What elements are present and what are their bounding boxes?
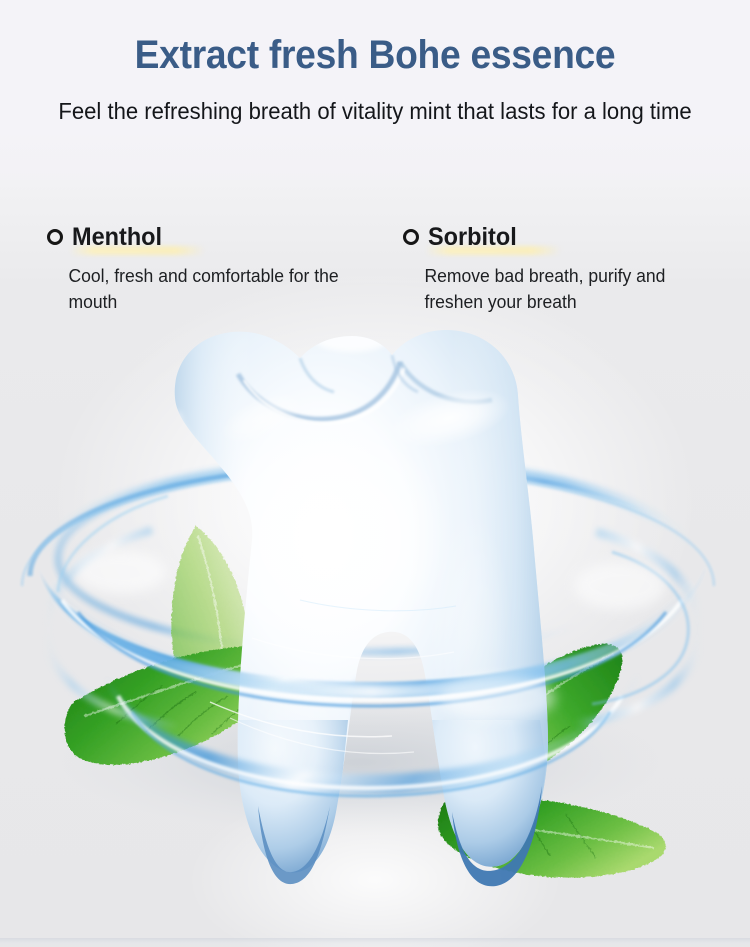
circle-outline-icon xyxy=(403,229,419,245)
feature-title-sorbitol: Sorbitol xyxy=(428,222,517,252)
feature-item-menthol: Menthol Cool, fresh and comfortable for … xyxy=(0,222,360,315)
feature-heading-menthol: Menthol xyxy=(47,222,360,252)
page-title: Extract fresh Bohe essence xyxy=(26,0,724,80)
circle-outline-icon xyxy=(47,229,63,245)
page-subtitle: Feel the refreshing breath of vitality m… xyxy=(58,80,692,128)
feature-item-sorbitol: Sorbitol Remove bad breath, purify and f… xyxy=(360,222,720,315)
feature-description-sorbitol: Remove bad breath, purify and freshen yo… xyxy=(403,252,712,315)
feature-description-menthol: Cool, fresh and comfortable for the mout… xyxy=(47,252,352,315)
feature-list: Menthol Cool, fresh and comfortable for … xyxy=(0,222,750,315)
feature-title-menthol: Menthol xyxy=(72,222,162,252)
header: Extract fresh Bohe essence Feel the refr… xyxy=(0,0,750,128)
feature-heading-sorbitol: Sorbitol xyxy=(403,222,720,252)
promo-page: Extract fresh Bohe essence Feel the refr… xyxy=(0,0,750,947)
